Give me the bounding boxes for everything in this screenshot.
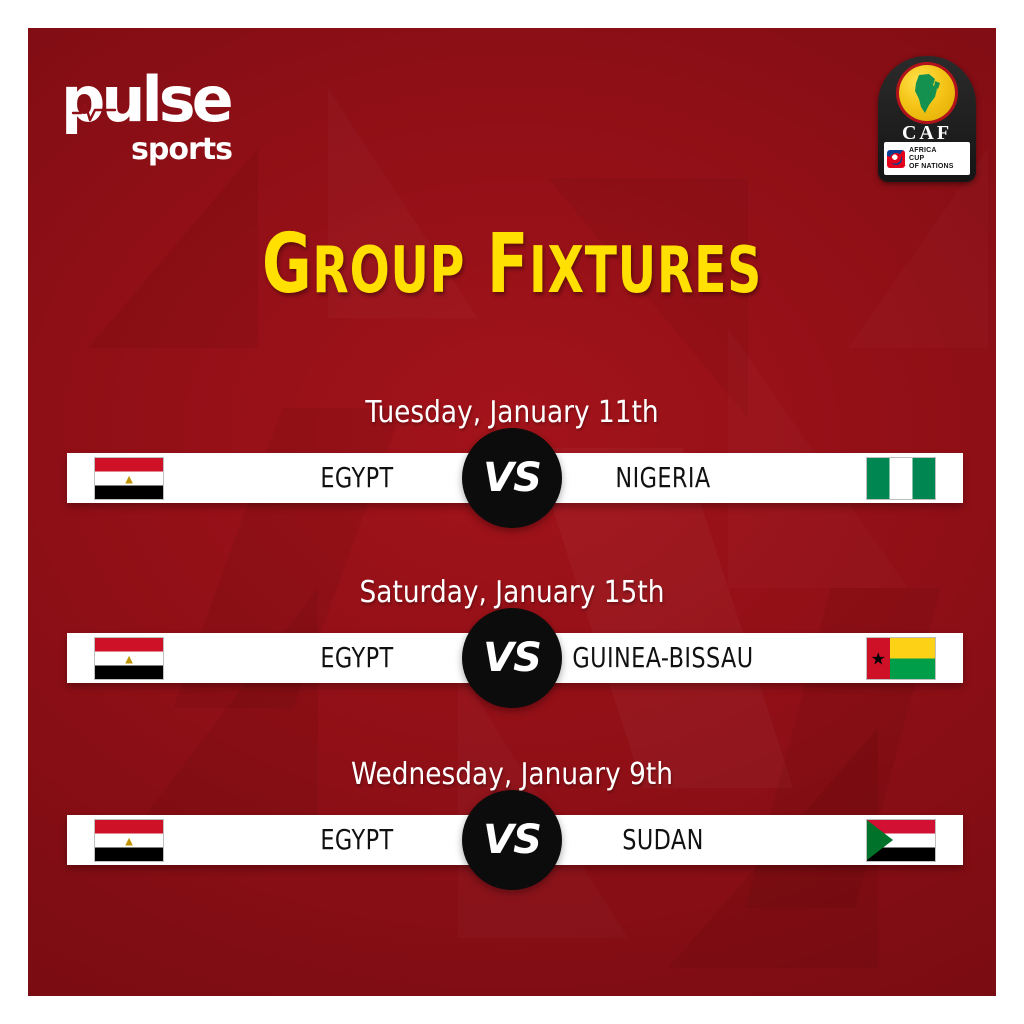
title-word-2-rest: IXTURES <box>529 234 762 308</box>
versus-label: VS <box>483 458 541 498</box>
egypt-flag: ▲ <box>95 638 163 679</box>
competition-name: AFRICA CUP OF NATIONS <box>909 147 954 171</box>
africa-globe-icon <box>899 65 955 121</box>
nigeria-flag <box>867 458 935 499</box>
eagle-of-saladin-icon: ▲ <box>122 471 137 486</box>
title-word-2-cap: F <box>487 217 529 312</box>
fixture-date: Saturday, January 15th <box>86 578 938 608</box>
competition-line-1: AFRICA <box>909 147 954 155</box>
versus-badge: VS <box>462 790 562 890</box>
sudan-flag <box>867 820 935 861</box>
pulse-sports-logo: pulse sports <box>61 63 251 173</box>
away-team-name: GUINEA-BISSAU <box>535 633 791 683</box>
bg-texture-shape <box>128 588 318 838</box>
home-team-name: EGYPT <box>237 815 477 865</box>
title-word-1-cap: G <box>262 217 312 312</box>
fixture-row: Wednesday, January 9th ▲ EGYPT SUDAN VS <box>28 760 996 790</box>
logo-subtitle: sports <box>131 135 232 165</box>
fixture-row: Saturday, January 15th ▲ EGYPT GUINEA-BI… <box>28 578 996 608</box>
versus-label: VS <box>483 638 541 678</box>
egypt-flag: ▲ <box>95 458 163 499</box>
title-word-1-rest: ROUP <box>312 234 465 308</box>
eagle-of-saladin-icon: ▲ <box>122 651 137 666</box>
versus-badge: VS <box>462 428 562 528</box>
home-team-name: EGYPT <box>237 633 477 683</box>
pulse-wave-icon <box>71 97 117 123</box>
sponsor-panel: TOTAL AFRICA CUP OF NATIONS <box>884 142 970 175</box>
eagle-of-saladin-icon: ▲ <box>122 833 137 848</box>
fixture-date: Tuesday, January 11th <box>86 398 938 428</box>
page-title: GROUP FIXTURES <box>115 224 909 306</box>
competition-line-3: OF NATIONS <box>909 163 954 171</box>
fixture-row: Tuesday, January 11th ▲ EGYPT NIGERIA VS <box>28 398 996 428</box>
competition-line-2: CUP <box>909 155 954 163</box>
total-logo-icon: TOTAL <box>887 150 905 168</box>
fixture-date: Wednesday, January 9th <box>86 760 938 790</box>
away-team-name: NIGERIA <box>535 453 791 503</box>
total-sponsor-label: TOTAL <box>893 162 906 167</box>
egypt-flag: ▲ <box>95 820 163 861</box>
black-star-icon: ★ <box>871 650 886 667</box>
flag-triangle <box>867 820 893 860</box>
versus-badge: VS <box>462 608 562 708</box>
guinea-bissau-flag: ★ <box>867 638 935 679</box>
versus-label: VS <box>483 820 541 860</box>
caf-tournament-badge: CAF TOTAL AFRICA CUP OF NATIONS <box>878 56 976 182</box>
home-team-name: EGYPT <box>237 453 477 503</box>
fixtures-poster: pulse sports CAF TOTAL AFRICA CUP OF NAT… <box>28 28 996 996</box>
away-team-name: SUDAN <box>535 815 791 865</box>
